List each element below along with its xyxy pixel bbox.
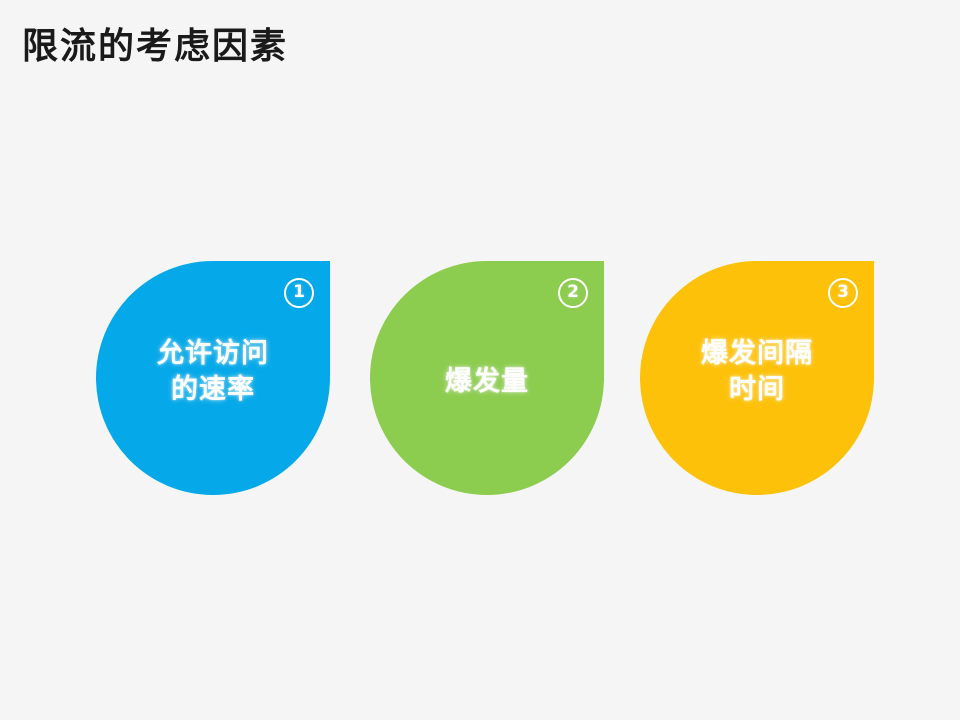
slide-canvas: 限流的考虑因素 1 允许访问 的速率 2 爆发量 3 爆发间隔 时间	[0, 0, 960, 720]
teardrop-label-1: 允许访问 的速率	[96, 336, 330, 408]
badge-number-icon-3: 3	[828, 278, 858, 308]
teardrop-card-3[interactable]: 3 爆发间隔 时间	[640, 261, 874, 495]
teardrop-label-3: 爆发间隔 时间	[640, 336, 874, 408]
badge-number-icon-2: 2	[558, 278, 588, 308]
teardrop-card-2[interactable]: 2 爆发量	[370, 261, 604, 495]
teardrop-shape-group: 1 允许访问 的速率 2 爆发量 3 爆发间隔 时间	[0, 0, 960, 720]
teardrop-label-2: 爆发量	[370, 364, 604, 400]
teardrop-card-1[interactable]: 1 允许访问 的速率	[96, 261, 330, 495]
badge-number-icon-1: 1	[284, 278, 314, 308]
